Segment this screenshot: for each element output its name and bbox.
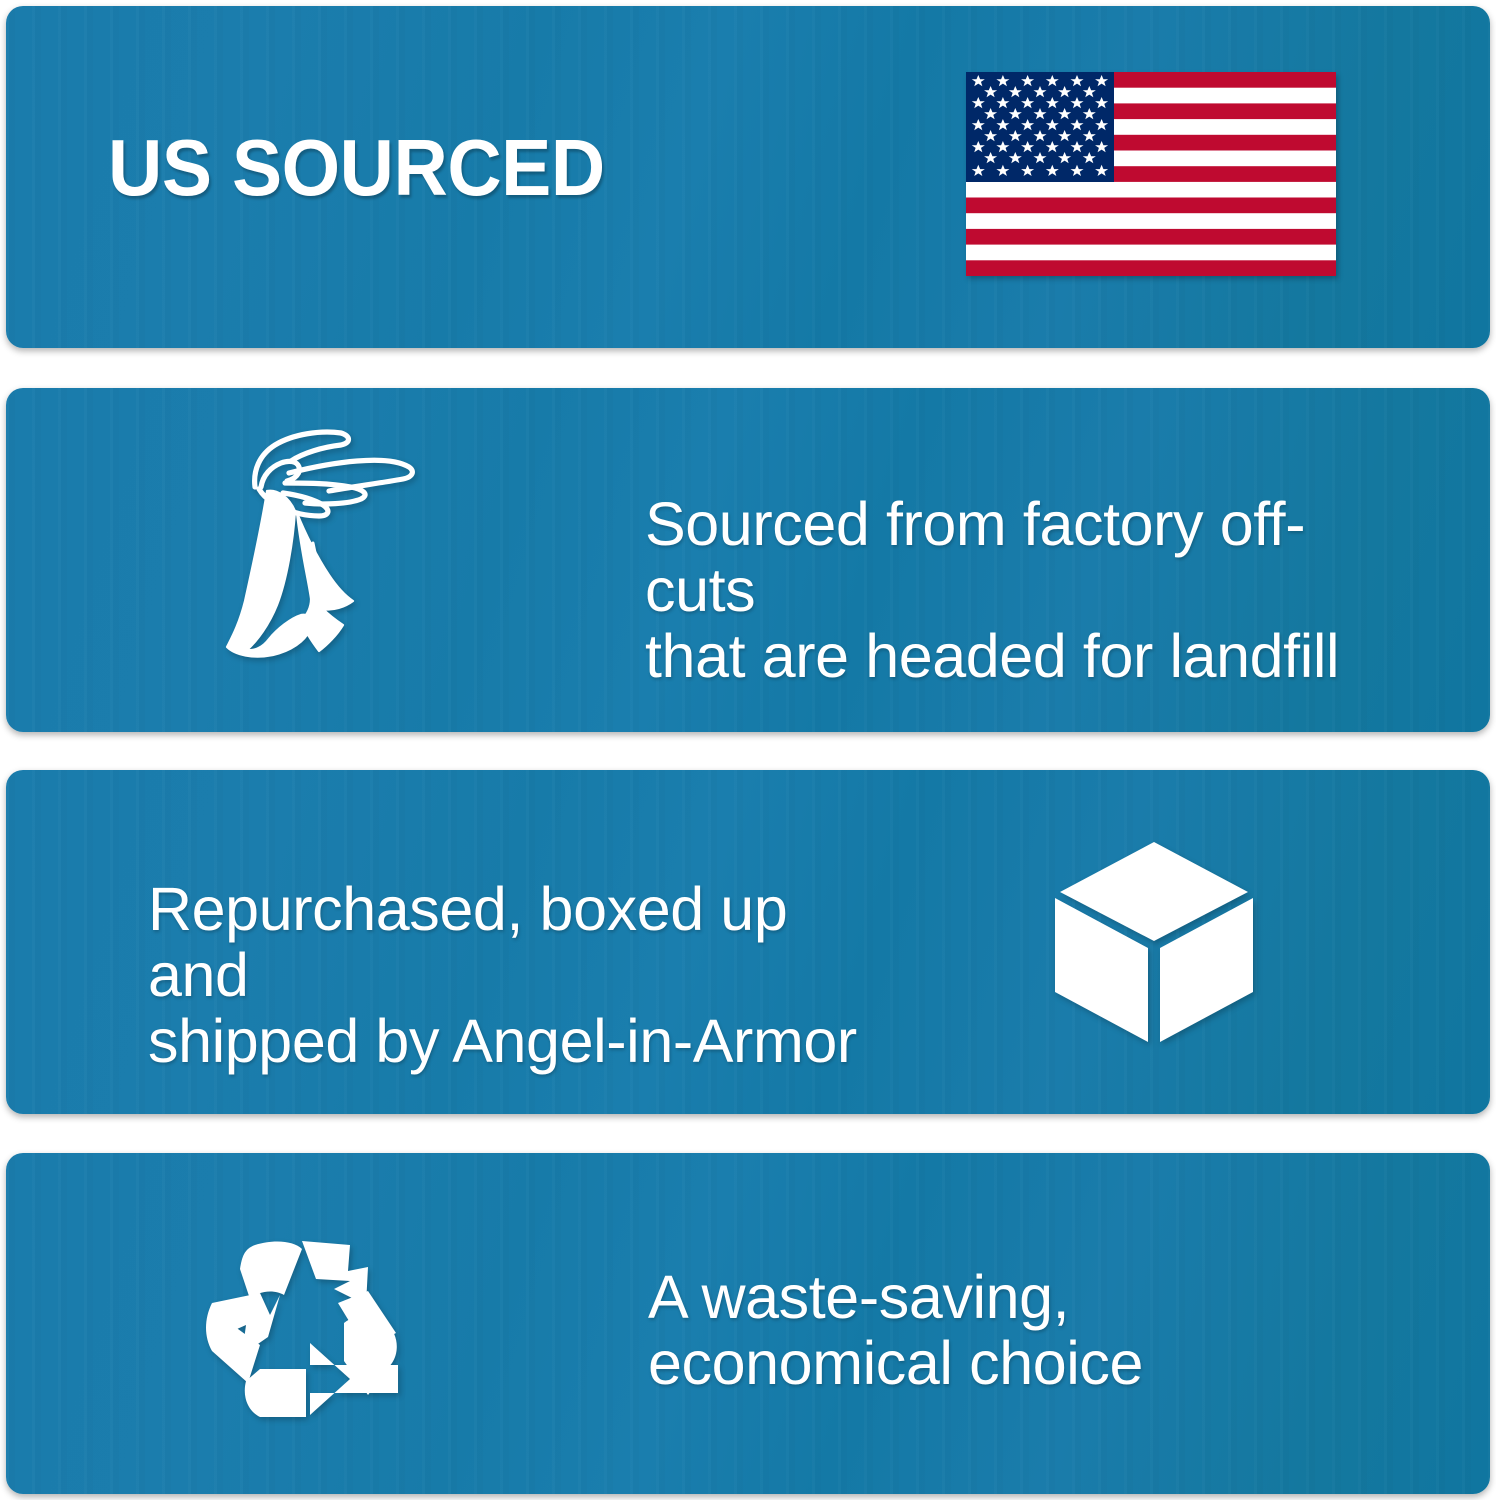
shipping-box-icon bbox=[1043, 836, 1265, 1048]
us-flag-icon bbox=[966, 72, 1336, 276]
panel-2-text: Sourced from factory off-cuts that are h… bbox=[645, 492, 1405, 690]
recycle-icon bbox=[198, 1233, 410, 1438]
panel-3-text: Repurchased, boxed up and shipped by Ang… bbox=[148, 877, 868, 1075]
panel-4-text: A waste-saving, economical choice bbox=[648, 1265, 1208, 1397]
infographic-board: US SOURCED bbox=[0, 0, 1496, 1500]
page-title: US SOURCED bbox=[108, 128, 605, 208]
hand-holding-cloth-icon bbox=[205, 425, 435, 690]
